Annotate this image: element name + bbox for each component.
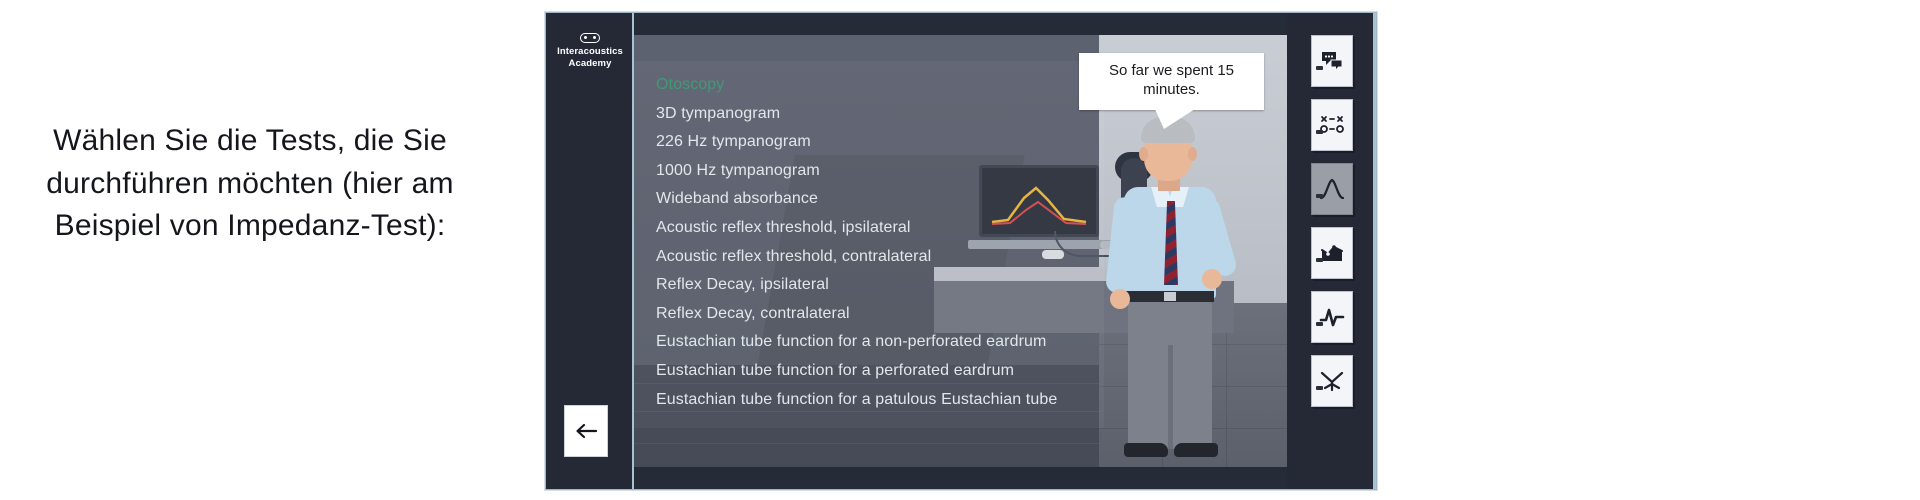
character-illustration — [1102, 109, 1242, 467]
test-list-item-otoscopy[interactable]: Otoscopy — [656, 71, 1104, 100]
audiogram-icon — [1319, 242, 1345, 264]
character-shoe-left — [1124, 443, 1168, 457]
toolbar-button-case-history[interactable] — [1311, 99, 1353, 151]
character-ear-right — [1188, 147, 1197, 161]
logo-line-2: Academy — [569, 58, 612, 69]
test-list-item-reflex-decay-ipsi[interactable]: Reflex Decay, ipsilateral — [656, 271, 1104, 300]
test-list-item-etf-non-perforated[interactable]: Eustachian tube function for a non-perfo… — [656, 328, 1104, 357]
character-ear-left — [1139, 147, 1148, 161]
interacoustics-academy-logo: Interacoustics Academy — [546, 33, 634, 70]
toolbar-button-speech-bubbles[interactable] — [1311, 35, 1353, 87]
right-toolbar — [1287, 13, 1376, 489]
test-list-item-226hz-tympanogram[interactable]: 226 Hz tympanogram — [656, 128, 1104, 157]
caption-text: Wählen Sie die Tests, die Sie durchführe… — [40, 120, 460, 248]
test-list-item-etf-patulous[interactable]: Eustachian tube function for a patulous … — [656, 386, 1104, 415]
interacoustics-logo-mark-icon — [580, 33, 600, 43]
logo-line-1: Interacoustics — [557, 46, 623, 57]
test-list-item-art-ipsilateral[interactable]: Acoustic reflex threshold, ipsilateral — [656, 214, 1104, 243]
screenshot-root: Wählen Sie die Tests, die Sie durchführe… — [0, 0, 1920, 500]
arrow-left-icon — [574, 422, 598, 440]
elearning-slide: So far we spent 15 minutes. Otoscopy 3D … — [545, 12, 1377, 490]
speech-bubbles-icon — [1320, 50, 1344, 72]
scene-background: So far we spent 15 minutes. Otoscopy 3D … — [634, 35, 1289, 467]
toolbar-button-waveform[interactable] — [1311, 291, 1353, 343]
case-history-icon — [1319, 114, 1345, 136]
test-list: Otoscopy 3D tympanogram 226 Hz tympanogr… — [634, 61, 1104, 428]
test-list-item-3d-tympanogram[interactable]: 3D tympanogram — [656, 100, 1104, 129]
reflex-icon — [1319, 370, 1345, 392]
test-list-item-art-contralateral[interactable]: Acoustic reflex threshold, contralateral — [656, 243, 1104, 272]
character-hand-left — [1110, 289, 1130, 309]
speech-bubble-tail — [1154, 107, 1198, 129]
character-belt-buckle — [1164, 292, 1176, 301]
slide-accent-edge-right — [1373, 13, 1376, 489]
test-list-item-wideband-absorbance[interactable]: Wideband absorbance — [656, 185, 1104, 214]
test-list-item-etf-perforated[interactable]: Eustachian tube function for a perforate… — [656, 357, 1104, 386]
slide-accent-edge-left — [632, 13, 634, 489]
test-list-item-reflex-decay-contra[interactable]: Reflex Decay, contralateral — [656, 300, 1104, 329]
speech-bubble-text: So far we spent 15 minutes. — [1109, 62, 1234, 98]
test-list-item-1000hz-tympanogram[interactable]: 1000 Hz tympanogram — [656, 157, 1104, 186]
toolbar-button-tympanogram-peak[interactable] — [1311, 163, 1353, 215]
back-button[interactable] — [564, 405, 608, 457]
character-shoe-right — [1174, 443, 1218, 457]
toolbar-button-reflex[interactable] — [1311, 355, 1353, 407]
character-hand-right — [1202, 269, 1222, 289]
character-leg-gap — [1168, 345, 1173, 449]
tympanogram-peak-icon — [1319, 178, 1345, 200]
speech-bubble: So far we spent 15 minutes. — [1079, 53, 1264, 110]
toolbar-button-audiogram[interactable] — [1311, 227, 1353, 279]
waveform-icon — [1319, 306, 1345, 328]
